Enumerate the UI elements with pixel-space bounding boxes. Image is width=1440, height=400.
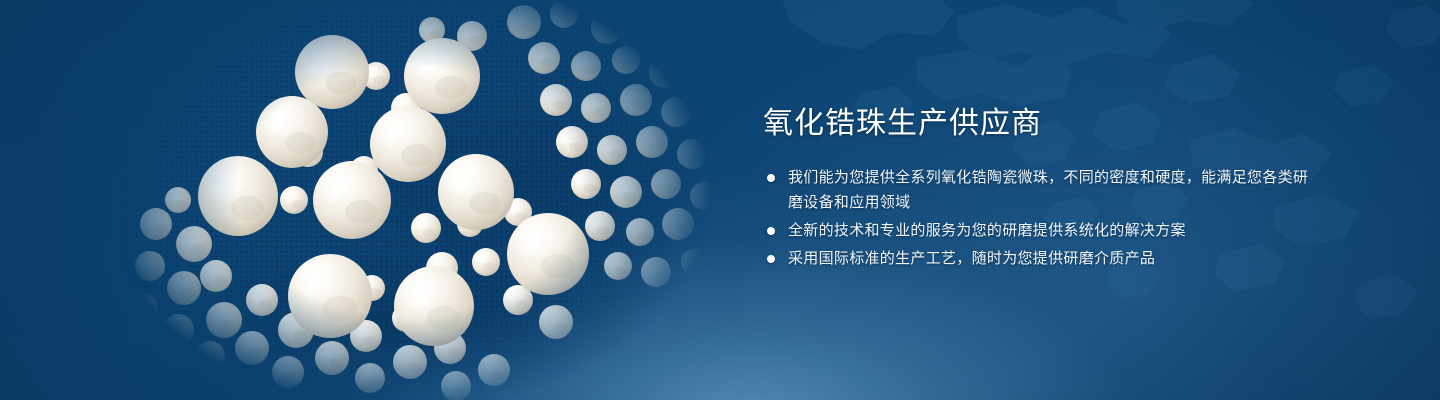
zirconia-beads-photo <box>120 0 720 400</box>
page-title: 氧化锆珠生产供应商 <box>763 104 1323 144</box>
list-item: 我们能为您提供全系列氧化锆陶瓷微珠，不同的密度和硬度，能满足您各类研磨设备和应用… <box>763 165 1323 215</box>
bullet-dot-icon <box>767 174 775 182</box>
list-item: 全新的技术和专业的服务为您的研磨提供系统化的解决方案 <box>763 218 1323 243</box>
bullet-dot-icon <box>767 255 775 263</box>
list-item-text: 全新的技术和专业的服务为您的研磨提供系统化的解决方案 <box>788 222 1186 239</box>
list-item-text: 采用国际标准的生产工艺，随时为您提供研磨介质产品 <box>788 250 1155 267</box>
feature-list: 我们能为您提供全系列氧化锆陶瓷微珠，不同的密度和硬度，能满足您各类研磨设备和应用… <box>763 165 1323 271</box>
banner-copy: 氧化锆珠生产供应商 我们能为您提供全系列氧化锆陶瓷微珠，不同的密度和硬度，能满足… <box>763 104 1323 274</box>
list-item-text: 我们能为您提供全系列氧化锆陶瓷微珠，不同的密度和硬度，能满足您各类研磨设备和应用… <box>788 169 1308 211</box>
bullet-dot-icon <box>767 227 775 235</box>
hero-banner: 氧化锆珠生产供应商 我们能为您提供全系列氧化锆陶瓷微珠，不同的密度和硬度，能满足… <box>0 0 1440 400</box>
list-item: 采用国际标准的生产工艺，随时为您提供研磨介质产品 <box>763 246 1323 271</box>
